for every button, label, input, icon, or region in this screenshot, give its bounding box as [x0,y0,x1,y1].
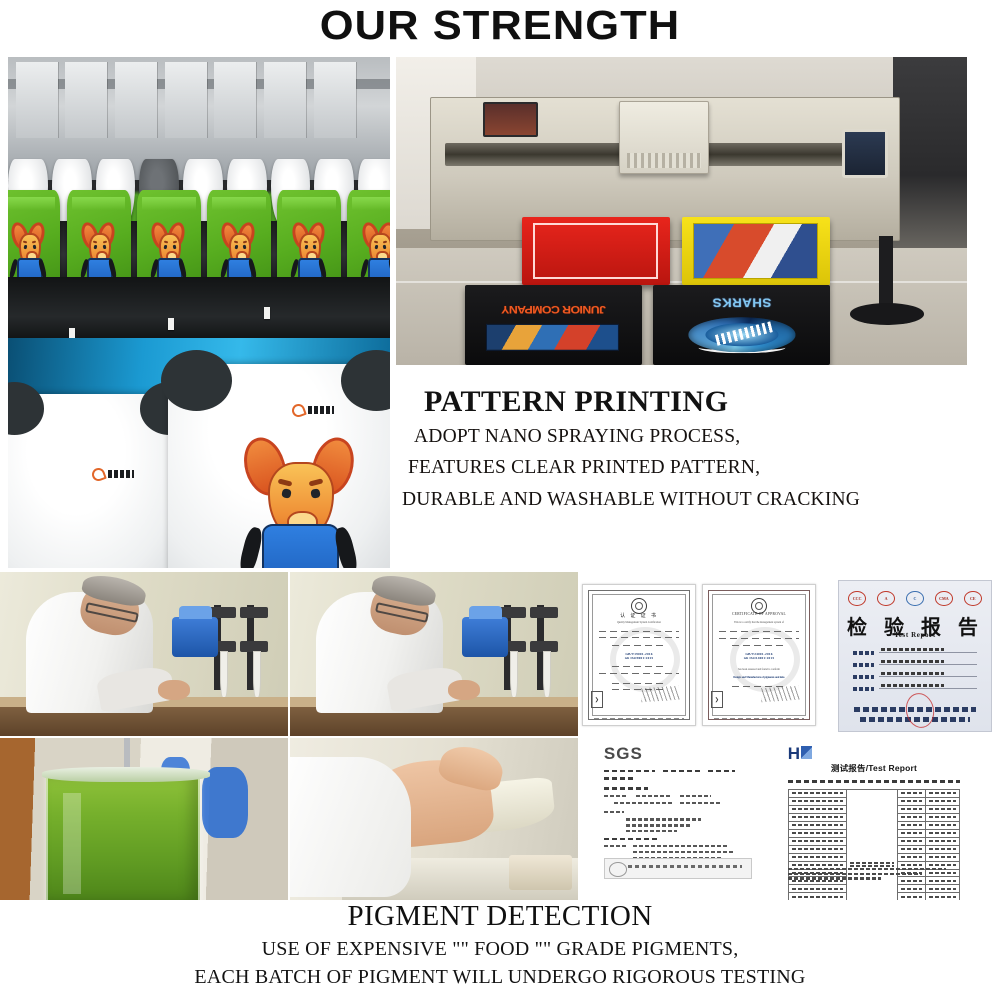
printer-control-screen [842,129,888,178]
red-official-seal-icon [903,690,937,730]
white-tshirt-foreground [168,364,390,568]
pattern-printing-line-1: ADOPT NANO SPRAYING PROCESS, [400,421,1000,453]
bull-mascot-print [294,221,323,284]
pattern-printing-line-3: DURABLE AND WASHABLE WITHOUT CRACKING [400,484,1000,516]
beaker-with-green-liquid [46,774,200,900]
section-pigment-detection: PIGMENT DETECTION USE OF EXPENSIVE "" FO… [0,898,1000,991]
pigment-detection-line-1: USE OF EXPENSIVE "" FOOD "" GRADE PIGMEN… [0,935,1000,963]
bull-mascot-print [224,221,253,284]
bull-mascot-print-large [249,434,348,568]
cqc-mark-icon: A [877,591,895,606]
pattern-printing-heading: PATTERN PRINTING [400,383,1000,421]
page-title: OUR STRENGTH [320,5,680,46]
certificate-iso14001: CERTIFICATE OF APPROVAL This is to certi… [702,584,816,726]
h-report-notes [788,868,960,882]
lab-coat-sleeve [290,757,411,896]
platen-yellow-shirt [682,217,830,285]
h-report-title: 测试报告/Test Report [770,765,978,773]
pattern-printing-line-2: FEATURES CLEAR PRINTED PATTERN, [400,452,1000,484]
h-lab-logo: H [788,744,812,764]
artwork-junior-text: JUNIOR COMPANY [481,298,625,319]
ce-mark-icon: CE [964,591,982,606]
certificates-and-reports: 认 证 证 书 Quality Management System Certif… [580,572,1000,900]
photo-dtg-flatbed-printer: JUNIOR COMPANY SHARKS [396,57,967,365]
sgs-logo: SGS [604,744,643,764]
page-header: OUR STRENGTH [0,0,1000,50]
ukas-mark-icon: ❯ [711,691,723,708]
bull-mascot-print [364,221,390,284]
artwork-sharks-text: SHARKS [671,295,811,309]
document-sgs-report: SGS [592,740,762,888]
printer-tablet-display [483,102,539,137]
print-head-carriage [619,101,710,174]
photo-fabric-sample-handling [290,738,578,900]
certificate-iso9001: 认 证 证 书 Quality Management System Certif… [582,584,696,726]
document-h-test-report: H 测试报告/Test Report [776,740,972,888]
product-detail-page: OUR STRENGTH [0,0,1000,1000]
sgs-report-footer [604,858,752,879]
photo-green-pigment-beaker [0,738,288,900]
document-test-report-cn: CCC A C CMA CE 检 验 报 告 Test Report [838,580,992,732]
photo-lab-technician-right [290,572,578,736]
platen-black-shirt-junior: JUNIOR COMPANY [465,285,642,365]
workshop-shelf-right [893,57,967,254]
stand-base [850,303,924,325]
platen-red-shirt [522,217,670,285]
certificate-title-zh: 认 证 证 书 [583,612,695,619]
certificate-title-en: CERTIFICATE OF APPROVAL [703,612,815,616]
artwork-junior-company: JUNIOR COMPANY [488,298,619,351]
conveyor-frame [8,277,390,343]
bull-mascot-print [153,221,182,284]
pigment-detection-line-2: EACH BATCH OF PIGMENT WILL UNDERGO RIGOR… [0,963,1000,991]
ukas-mark-icon: ❯ [591,691,603,708]
ccc-mark-icon: CCC [848,591,866,606]
sgs-seal-icon [609,862,627,877]
artwork-sharks: SHARKS [678,295,805,354]
h-report-table [788,789,960,900]
certification-logos: CCC A C CMA CE [848,590,982,607]
photo-t-shirt-printing-conveyor [8,57,390,568]
pigment-detection-heading: PIGMENT DETECTION [0,898,1000,935]
cma-mark-icon: CMA [935,591,953,606]
photo-lab-technician-left [0,572,288,736]
cnas-mark-icon: C [906,591,924,606]
bull-mascot-print [13,221,42,284]
white-tshirt-foreground [8,394,191,568]
section-pattern-printing: PATTERN PRINTING ADOPT NANO SPRAYING PRO… [400,383,1000,515]
bull-mascot-print [83,221,112,284]
test-report-title-en: Test Report [839,631,991,639]
platen-black-shirt-sharks: SHARKS [653,285,830,365]
